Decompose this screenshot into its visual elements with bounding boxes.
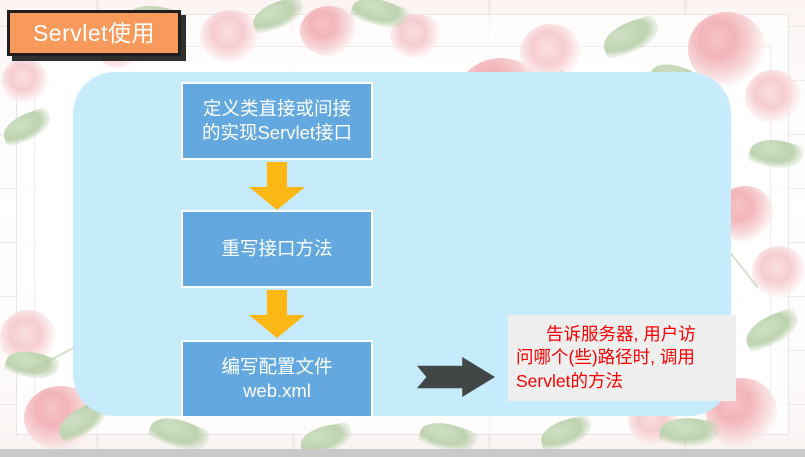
callout-note-line-2: 问哪个(些)路径时, 调用 <box>516 346 728 369</box>
callout-note-line-3: Servlet的方法 <box>516 370 728 393</box>
flow-step-override-methods[interactable]: 重写接口方法 <box>181 210 373 288</box>
flow-step-write-config-line-1: 编写配置文件 <box>221 355 332 379</box>
page-title-label: Servlet使用 <box>33 22 155 45</box>
flow-step-define-class[interactable]: 定义类直接或间接 的实现Servlet接口 <box>181 82 373 160</box>
flow-step-override-methods-line-1: 重写接口方法 <box>221 237 332 261</box>
flow-step-define-class-line-1: 定义类直接或间接 <box>202 97 352 121</box>
callout-note: 告诉服务器, 用户访 问哪个(些)路径时, 调用 Servlet的方法 <box>508 315 736 401</box>
flow-step-write-config-line-2: web.xml <box>221 379 332 403</box>
flow-step-define-class-line-2: 的实现Servlet接口 <box>202 121 352 145</box>
flow-step-write-config[interactable]: 编写配置文件 web.xml <box>181 340 373 418</box>
bottom-bar <box>0 449 805 457</box>
callout-note-line-1: 告诉服务器, 用户访 <box>516 323 728 346</box>
page-title: Servlet使用 <box>7 10 181 56</box>
slide-canvas: Servlet使用 定义类直接或间接 的实现Servlet接口 重写接口方法 编… <box>0 0 805 457</box>
